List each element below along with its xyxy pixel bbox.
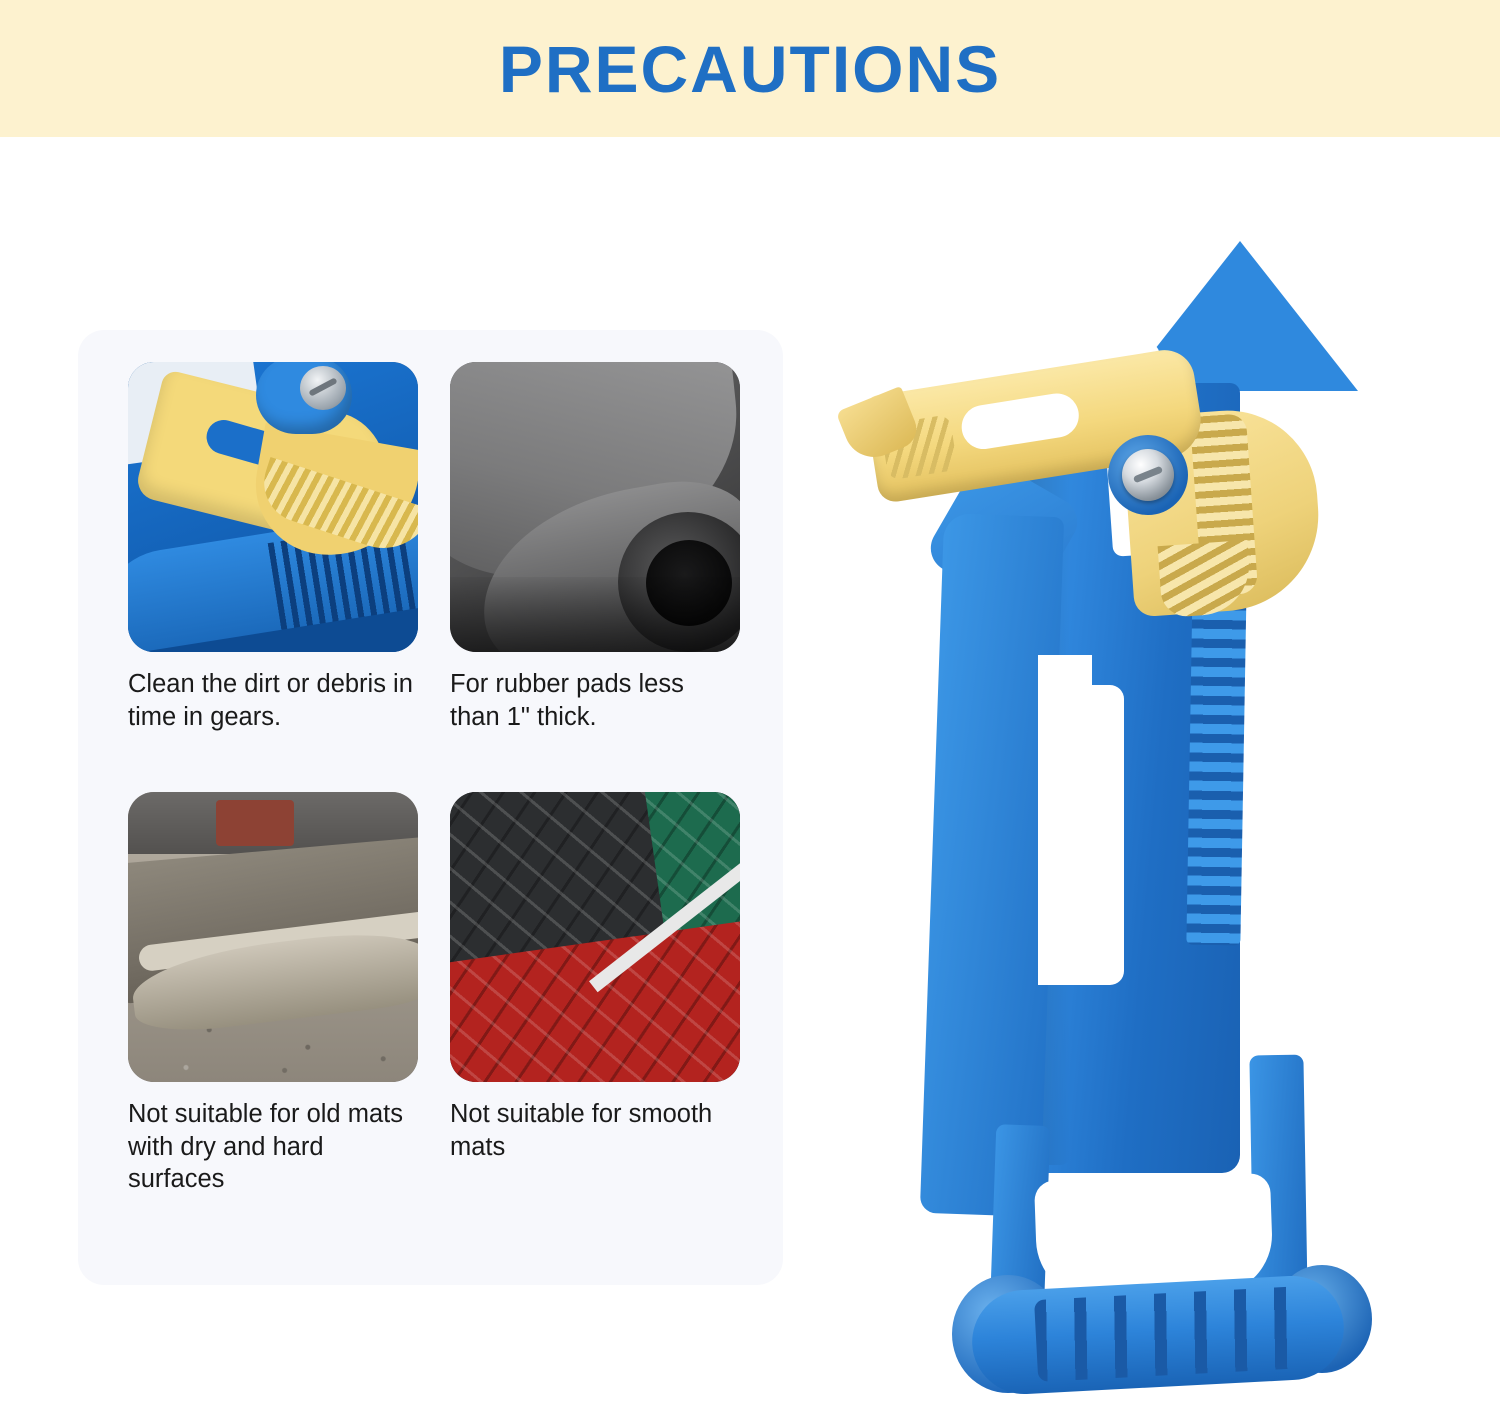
diamond-plate-mats-photo xyxy=(450,792,740,1082)
precaution-caption: Not suitable for smooth mats xyxy=(450,1098,740,1163)
precaution-item: Not suitable for smooth mats xyxy=(450,792,740,1163)
precaution-item: Not suitable for old mats with dry and h… xyxy=(128,792,418,1196)
precaution-item: Clean the dirt or debris in time in gear… xyxy=(128,362,418,733)
mat-lifter-tool-photo xyxy=(800,175,1460,1375)
precaution-caption: Not suitable for old mats with dry and h… xyxy=(128,1098,418,1196)
page-title: PRECAUTIONS xyxy=(499,31,1001,107)
precaution-caption: Clean the dirt or debris in time in gear… xyxy=(128,668,418,733)
gear-closeup-photo xyxy=(128,362,418,652)
header-banner: PRECAUTIONS xyxy=(0,0,1500,137)
precautions-card: Clean the dirt or debris in time in gear… xyxy=(78,330,783,1285)
old-mat-photo xyxy=(128,792,418,1082)
precaution-caption: For rubber pads less than 1" thick. xyxy=(450,668,740,733)
rubber-sheet-photo xyxy=(450,362,740,652)
precaution-item: For rubber pads less than 1" thick. xyxy=(450,362,740,733)
